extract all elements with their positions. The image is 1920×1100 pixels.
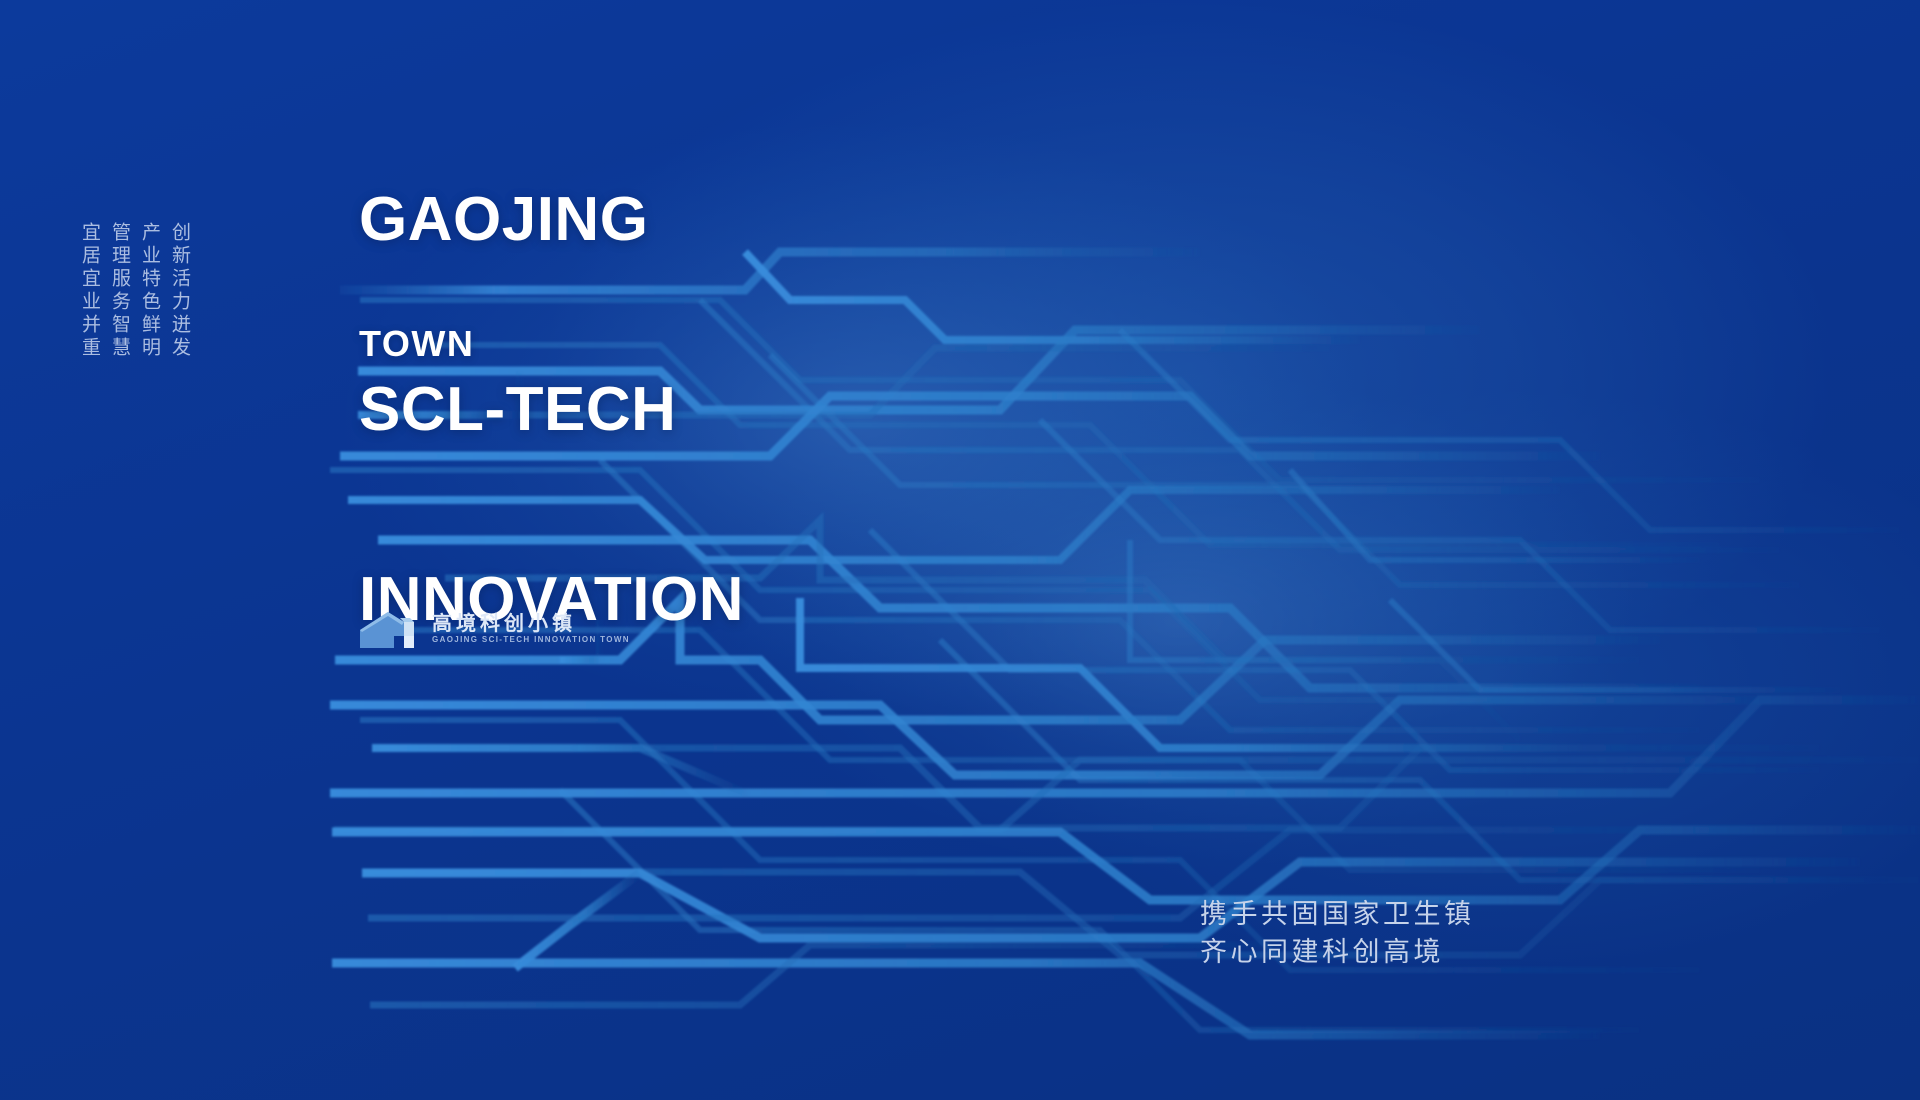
brand-name-cn: 高境科创小镇 bbox=[432, 613, 630, 633]
headline-line-2: SCL-TECH bbox=[359, 378, 744, 441]
headline-town-word: TOWN bbox=[359, 323, 474, 365]
house-building-icon bbox=[358, 606, 420, 650]
poster-canvas: GAOJING SCL-TECH INNOVATION TOWN 创新活力迸发 … bbox=[0, 0, 1920, 1100]
brand-name-en: GAOJING SCI-TECH INNOVATION TOWN bbox=[432, 636, 630, 644]
headline-line-1: GAOJING bbox=[359, 188, 744, 251]
brand-logo-text: 高境科创小镇 GAOJING SCI-TECH INNOVATION TOWN bbox=[432, 613, 630, 644]
slogan-line-2: 齐心同建科创高境 bbox=[1200, 934, 1475, 972]
brand-logo: 高境科创小镇 GAOJING SCI-TECH INNOVATION TOWN bbox=[358, 606, 630, 650]
vertical-tagline-column-1: 创新活力迸发 bbox=[170, 222, 189, 360]
slogan-line-1: 携手共固国家卫生镇 bbox=[1200, 896, 1475, 934]
vertical-tagline-column-2: 产业特色鲜明 bbox=[140, 222, 159, 360]
circuit-trace-artwork bbox=[0, 0, 1920, 1100]
page-title: GAOJING SCL-TECH INNOVATION bbox=[359, 62, 744, 758]
vertical-tagline: 创新活力迸发 产业特色鲜明 管理服务智慧 宜居宜业并重 bbox=[80, 222, 189, 360]
slogan: 携手共固国家卫生镇 齐心同建科创高境 bbox=[1200, 896, 1475, 973]
vertical-tagline-column-4: 宜居宜业并重 bbox=[80, 222, 99, 360]
vertical-tagline-column-3: 管理服务智慧 bbox=[110, 222, 129, 360]
